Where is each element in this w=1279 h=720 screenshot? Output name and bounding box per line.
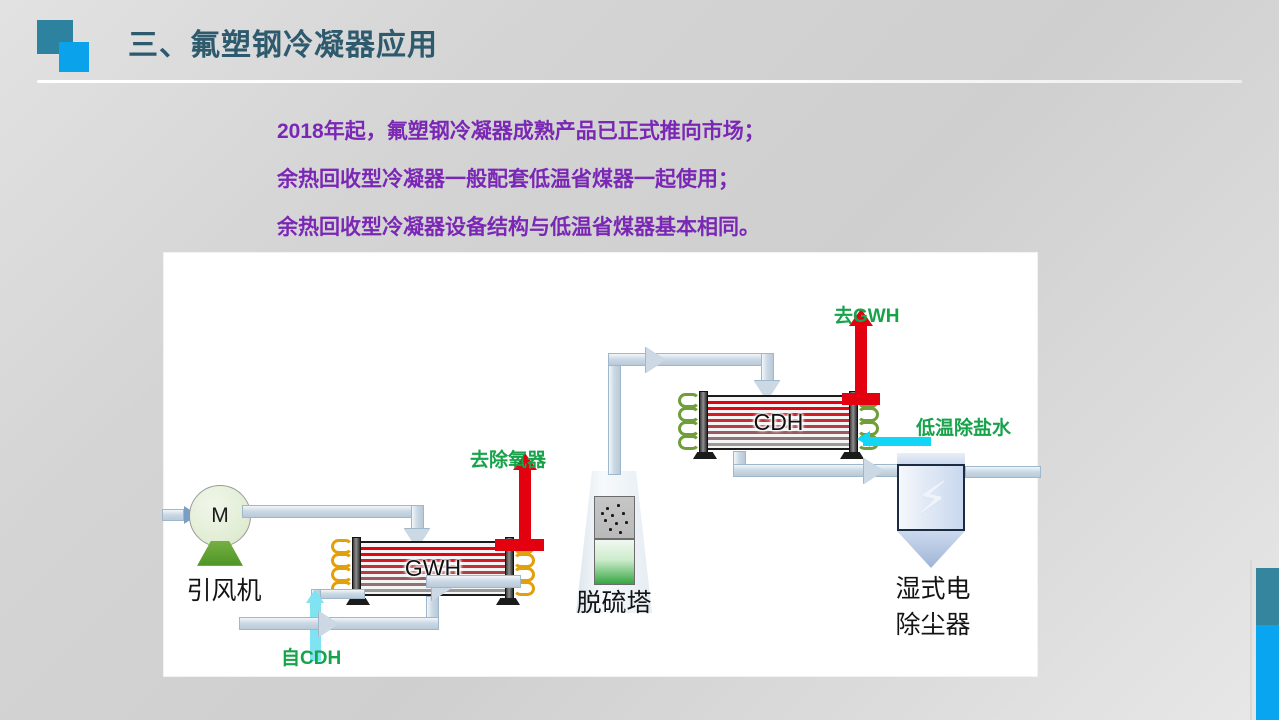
duct-tower-to-cdh-horizontal — [608, 353, 774, 366]
wet-esp-funnel — [897, 531, 965, 568]
header-divider — [37, 80, 1242, 83]
duct-mid-arrow-icon — [319, 611, 339, 637]
label-to-deaerator: 去除氧器 — [470, 445, 546, 472]
duct-to-tower-horizontal — [239, 617, 439, 630]
gwh-coil-r2-icon — [513, 553, 535, 568]
gwh-coil-l1-icon — [331, 539, 353, 554]
cdh-coil-r2-icon — [857, 407, 879, 422]
cold-inlet-arrow-icon — [306, 589, 324, 603]
header-square-bright-icon — [59, 42, 89, 72]
demin-water-arrow-icon — [857, 431, 870, 447]
cdh-coil-l4-icon — [678, 435, 700, 450]
fan-motor-symbol: M — [211, 504, 229, 528]
cdh-name-label: CDH — [701, 408, 856, 435]
edge-decoration-teal — [1256, 568, 1279, 625]
gwh-right-foot — [496, 598, 520, 605]
tower-slurry-section — [594, 539, 635, 585]
edge-seam — [1250, 560, 1252, 720]
cdh-coil-l2-icon — [678, 407, 700, 422]
gwh-coil-l3-icon — [331, 567, 353, 582]
process-flow-diagram: M 引风机 GWH — [164, 253, 1037, 676]
fan-base — [197, 541, 243, 566]
cdh-right-foot — [840, 452, 864, 459]
duct-fan-to-gwh-vertical — [411, 505, 424, 531]
cdh-hot-outlet-vertical — [855, 325, 867, 398]
cdh-coil-l3-icon — [678, 421, 700, 436]
slide-header: 三、氟塑钢冷凝器应用 — [0, 0, 1279, 92]
fan-label: 引风机 — [174, 571, 274, 607]
body-text-block: 2018年起，氟塑钢冷凝器成熟产品已正式推向市场； 余热回收型冷凝器一般配套低温… — [277, 108, 1077, 252]
duct-tower-riser — [608, 353, 621, 475]
wet-esp-cap — [897, 453, 965, 466]
duct-esp-arrow-icon — [864, 458, 884, 484]
edge-decoration-blue — [1256, 625, 1279, 720]
gwh-left-foot — [346, 598, 370, 605]
cdh-heat-exchanger: CDH — [701, 395, 856, 450]
duct-esp-outlet — [965, 466, 1041, 478]
body-line-2: 余热回收型冷凝器一般配套低温省煤器一起使用； — [277, 156, 1077, 204]
tower-spray-section — [594, 496, 635, 539]
label-from-cdh: 自CDH — [281, 643, 341, 670]
label-to-gwh: 去GWH — [834, 301, 899, 328]
wet-esp-label-line2: 除尘器 — [869, 607, 997, 643]
inlet-duct — [162, 509, 184, 521]
label-demin-water: 低温除盐水 — [916, 413, 1011, 440]
duct-cdh-downcomer — [761, 353, 774, 383]
page-title: 三、氟塑钢冷凝器应用 — [128, 20, 438, 64]
gwh-coil-l2-icon — [331, 553, 353, 568]
wet-esp-label: 湿式电 除尘器 — [869, 571, 997, 643]
tower-label: 脱硫塔 — [559, 583, 669, 619]
body-line-3: 余热回收型冷凝器设备结构与低温省煤器基本相同。 — [277, 204, 1077, 252]
cdh-coil-l1-icon — [678, 393, 700, 408]
duct-tower-to-cdh-arrow-icon — [646, 347, 666, 373]
gwh-hot-outlet-vertical — [519, 469, 531, 544]
body-line-1: 2018年起，氟塑钢冷凝器成熟产品已正式推向市场； — [277, 108, 1077, 156]
wet-esp-label-line1: 湿式电 — [869, 571, 997, 607]
lightning-bolt-icon: ⚡ — [916, 475, 948, 521]
duct-tower-feed — [426, 575, 521, 588]
cdh-left-foot — [693, 452, 717, 459]
duct-fan-to-gwh-horizontal — [242, 505, 424, 518]
